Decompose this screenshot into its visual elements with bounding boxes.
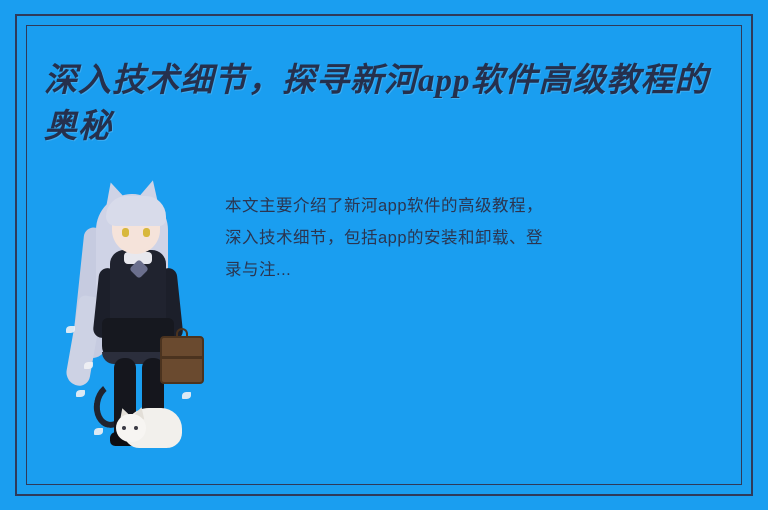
hair-fringe-icon [106,196,166,226]
card-body: 本文主要介绍了新河app软件的高级教程，深入技术细节，包括app的安装和卸载、登… [0,168,768,488]
eye-left-icon [122,228,129,237]
cat-eye-left-icon [122,426,126,430]
petal-icon [182,392,191,399]
petal-icon [76,390,85,397]
petal-icon [84,362,93,369]
article-summary: 本文主要介绍了新河app软件的高级教程，深入技术细节，包括app的安装和卸载、登… [225,190,545,286]
briefcase-strap-icon [160,356,204,359]
petal-icon [94,428,103,435]
illustration [58,176,218,476]
cat-head-icon [116,414,146,442]
petal-icon [66,326,75,333]
page-title: 深入技术细节，探寻新河app软件高级教程的奥秘 [44,58,734,150]
briefcase-icon [160,336,204,384]
cat-eye-right-icon [134,426,138,430]
eye-right-icon [143,228,150,237]
article-card: 深入技术细节，探寻新河app软件高级教程的奥秘 [0,0,768,510]
